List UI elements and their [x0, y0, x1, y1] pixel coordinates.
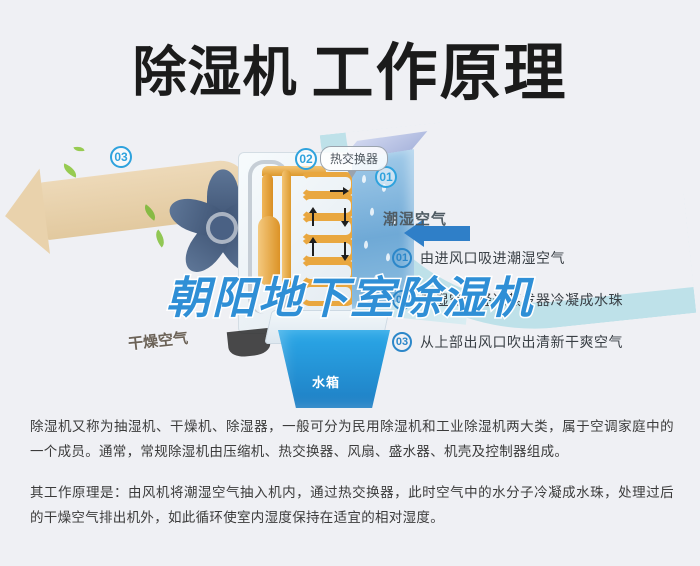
description-paragraph-2: 其工作原理是：由风机将潮湿空气抽入机内，通过热交换器，此时空气中的水分子冷凝成水…	[30, 480, 674, 530]
step-text: 潮湿空气经过蒸发器冷凝成水珠	[420, 290, 623, 310]
leaf-icon	[61, 163, 79, 177]
diagram-badge-02: 02	[295, 148, 317, 170]
diagram-badge-03: 03	[110, 146, 132, 168]
step-number: 01	[392, 248, 412, 268]
infographic-page: 除湿机工作原理 干燥空气	[0, 0, 700, 566]
page-title-part1: 除湿机	[132, 43, 297, 103]
step-number: 03	[392, 332, 412, 352]
step-number: 02	[392, 290, 412, 310]
dry-air-label: 干燥空气	[127, 327, 189, 354]
machine-foot	[227, 328, 271, 358]
steps-list: 01 由进风口吸进潮湿空气 02 潮湿空气经过蒸发器冷凝成水珠 03 从上部出风…	[392, 248, 692, 374]
description-block: 除湿机又称为抽湿机、干燥机、除湿器，一般可分为民用除湿机和工业除湿机两大类，属于…	[30, 414, 674, 546]
page-title: 除湿机工作原理	[0, 22, 700, 112]
flow-arrow-up-icon	[312, 212, 314, 226]
flow-arrow-down-icon	[344, 242, 346, 256]
list-item: 02 潮湿空气经过蒸发器冷凝成水珠	[392, 290, 692, 310]
water-tank-icon	[278, 330, 390, 408]
heat-exchanger-callout: 热交换器	[320, 146, 388, 171]
copper-pipe-icon	[282, 170, 291, 290]
list-item: 01 由进风口吸进潮湿空气	[392, 248, 692, 268]
fan-hub-icon	[210, 216, 234, 240]
step-text: 由进风口吸进潮湿空气	[420, 248, 565, 268]
flow-arrow-right-icon	[330, 190, 344, 192]
wet-air-label: 潮湿空气	[383, 208, 447, 229]
compressor-cylinder-icon	[258, 216, 280, 286]
step-text: 从上部出风口吹出清新干爽空气	[420, 332, 623, 352]
page-title-part2: 工作原理	[311, 39, 567, 108]
description-paragraph-1: 除湿机又称为抽湿机、干燥机、除湿器，一般可分为民用除湿机和工业除湿机两大类，属于…	[30, 414, 674, 464]
list-item: 03 从上部出风口吹出清新干爽空气	[392, 332, 692, 352]
flow-arrow-down-icon	[344, 208, 346, 222]
flow-arrow-up-icon	[312, 242, 314, 256]
leaf-icon	[73, 145, 84, 153]
water-tank-label: 水箱	[312, 372, 340, 391]
